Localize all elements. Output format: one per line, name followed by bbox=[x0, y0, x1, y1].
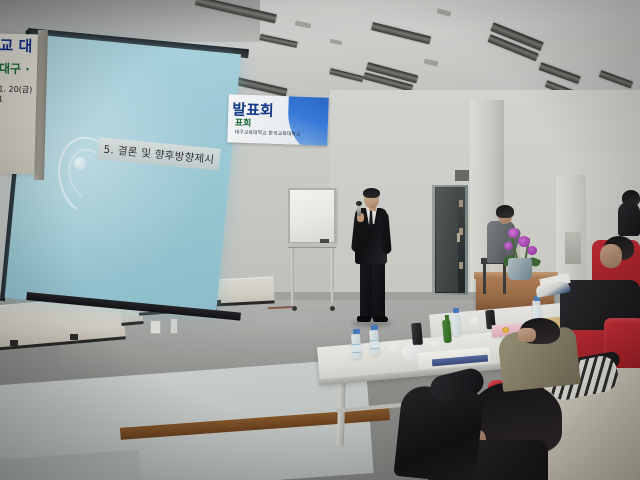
beverage-can[interactable] bbox=[411, 323, 423, 346]
plant-pot bbox=[508, 258, 532, 280]
cabinet-foot bbox=[70, 334, 78, 340]
microphone-head-icon bbox=[356, 201, 362, 206]
door-leaf[interactable] bbox=[436, 188, 458, 292]
chair-leg bbox=[483, 262, 486, 294]
door-hinge bbox=[459, 262, 463, 269]
whiteboard bbox=[288, 188, 336, 244]
whiteboard-marker[interactable] bbox=[320, 239, 329, 243]
wall-outlet[interactable] bbox=[150, 320, 161, 334]
banner-footnote: 대구교육대학교 한국교육대학교 bbox=[234, 128, 300, 137]
banner-subtitle: 표회 bbox=[235, 116, 252, 130]
whiteboard-marker-tray bbox=[288, 243, 336, 248]
orchid-flower bbox=[504, 242, 513, 250]
presenter-leg bbox=[372, 258, 385, 320]
photo-scene: 5. 결론 및 향후방향제시 교 대 대구 · 1. 20(금) 1 발표회 표… bbox=[0, 0, 640, 480]
banner-swoosh-graphic bbox=[287, 94, 329, 145]
bottle-cap bbox=[353, 329, 360, 335]
seated-person-hair bbox=[496, 205, 514, 218]
door-handle[interactable] bbox=[457, 233, 460, 242]
door-hinge bbox=[459, 200, 463, 207]
wall-poster: 교 대 대구 · 1. 20(금) 1 bbox=[0, 34, 38, 175]
whiteboard-wheel bbox=[292, 306, 297, 311]
presenter-shoe bbox=[357, 316, 371, 322]
audience-person-body bbox=[618, 202, 640, 236]
orchid-flower bbox=[508, 228, 519, 238]
bottle-label bbox=[352, 344, 362, 354]
poster-line-1: 교 대 bbox=[0, 38, 36, 55]
presenter-hair bbox=[363, 188, 380, 198]
slide-highlight-dot bbox=[74, 157, 87, 170]
bottle-cap bbox=[371, 325, 378, 331]
audience-person-head bbox=[600, 244, 622, 268]
event-banner: 발표회 표회 대구교육대학교 한국교육대학교 bbox=[227, 94, 329, 145]
orchid-flower bbox=[518, 236, 530, 247]
presenter-leg bbox=[360, 258, 372, 320]
bottle-label bbox=[370, 340, 380, 350]
wall-outlet[interactable] bbox=[170, 318, 178, 334]
wall-panel bbox=[565, 232, 581, 264]
wall-speaker-box bbox=[455, 170, 469, 181]
presenter-shoe bbox=[373, 316, 388, 322]
whiteboard-wheel bbox=[330, 306, 335, 311]
cabinet-foot bbox=[10, 340, 18, 346]
poster-line-3: 1. 20(금) 1 bbox=[0, 83, 35, 104]
audience-person-hand bbox=[518, 328, 536, 342]
bottle-cap bbox=[453, 308, 459, 314]
chair-leg bbox=[503, 262, 506, 294]
orchid-flower bbox=[527, 246, 537, 255]
poster-line-2: 대구 · bbox=[0, 59, 35, 77]
